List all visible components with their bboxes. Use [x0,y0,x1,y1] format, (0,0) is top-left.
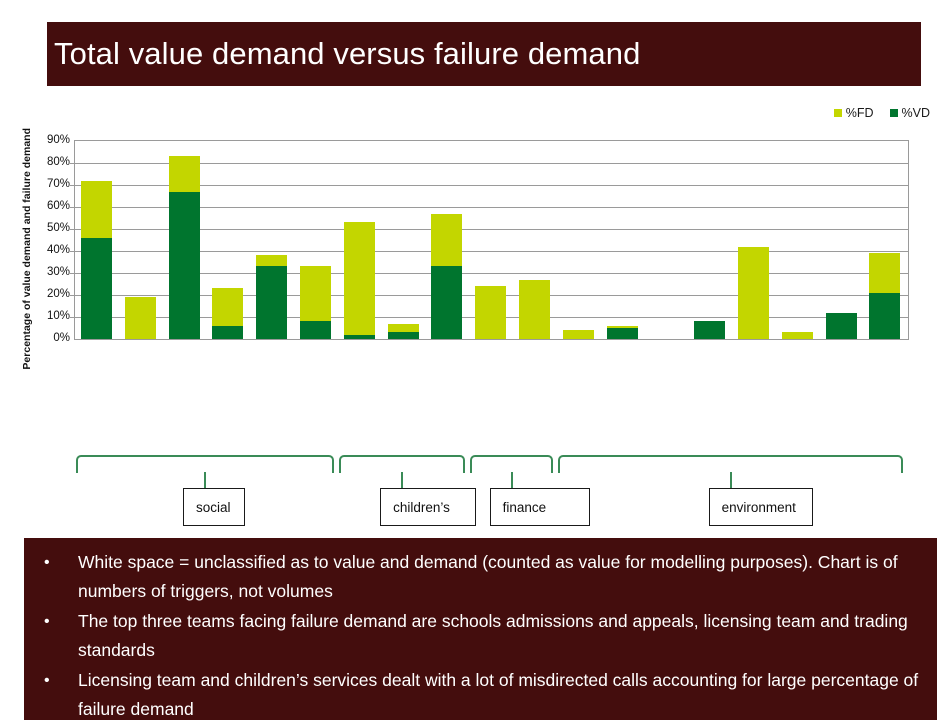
bar[interactable] [125,297,156,339]
bar-segment-vd [300,321,331,339]
group-bracket [558,455,904,473]
chart-legend: %FD %VD [834,106,930,120]
y-axis-tick-label: 30% [47,266,70,278]
bar-segment-fd [344,222,375,334]
bar-segment-vd [169,192,200,339]
bullet-text: Licensing team and children’s services d… [78,666,924,724]
bar-segment-fd [475,286,506,339]
note-bullet: •Licensing team and children’s services … [34,666,924,724]
group-label: environment [710,500,796,515]
bar-segment-vd [869,293,900,339]
group-bracket-stem [511,472,513,488]
bar-segment-vd [388,332,419,339]
legend-item-vd: %VD [890,106,930,120]
bar[interactable] [607,326,638,339]
bar[interactable] [431,214,462,339]
bar-segment-vd [344,335,375,339]
bar-segment-fd [169,156,200,191]
group-label-box: social [183,488,245,526]
bar[interactable] [869,253,900,339]
plot-area [74,140,909,340]
bar-segment-vd [694,321,725,339]
group-bracket [470,455,553,473]
y-axis-tick-label: 20% [47,288,70,300]
y-axis-tick-label: 50% [47,222,70,234]
bar-segment-vd [607,328,638,339]
notes-list: •White space = unclassified as to value … [34,548,924,725]
group-label-box: children’s [380,488,476,526]
bar[interactable] [475,286,506,339]
bar[interactable] [826,313,857,339]
bar-segment-fd [212,288,243,325]
bar[interactable] [519,280,550,339]
note-bullet: •White space = unclassified as to value … [34,548,924,606]
bar[interactable] [169,156,200,339]
bar-segment-fd [738,247,769,339]
bar[interactable] [694,321,725,339]
bullet-marker: • [34,607,78,636]
bullet-text: White space = unclassified as to value a… [78,548,924,606]
bar[interactable] [81,181,112,339]
bar[interactable] [256,255,287,339]
group-bracket-stem [401,472,403,488]
bar-segment-fd [388,324,419,333]
group-bracket [76,455,334,473]
bar[interactable] [300,266,331,339]
legend-label-fd: %FD [846,106,874,120]
y-axis-tick-label: 60% [47,200,70,212]
legend-swatch-vd [890,109,898,117]
y-axis-tick-label: 0% [53,332,70,344]
page-title: Total value demand versus failure demand [54,34,640,74]
note-bullet: •The top three teams facing failure dema… [34,607,924,665]
bullet-marker: • [34,548,78,577]
bar[interactable] [563,330,594,339]
bar-segment-fd [563,330,594,339]
group-brackets: socialchildren’sfinanceenvironment [0,455,944,530]
legend-label-vd: %VD [902,106,930,120]
bar-segment-vd [256,266,287,339]
bar-segment-fd [431,214,462,267]
bar-segment-fd [782,332,813,339]
bar[interactable] [782,332,813,339]
bar-segment-vd [431,266,462,339]
group-bracket-stem [204,472,206,488]
legend-item-fd: %FD [834,106,874,120]
bar-segment-fd [125,297,156,339]
group-bracket [339,455,466,473]
bar-segment-fd [869,253,900,293]
bar[interactable] [212,288,243,339]
bar-segment-vd [212,326,243,339]
bar[interactable] [344,222,375,339]
y-axis-tick-labels: 90%80%70%60%50%40%30%20%10%0% [30,134,70,344]
bullet-text: The top three teams facing failure deman… [78,607,924,665]
y-axis-tick-label: 10% [47,310,70,322]
bar[interactable] [388,324,419,339]
y-axis-tick-label: 40% [47,244,70,256]
legend-swatch-fd [834,109,842,117]
bar-segment-vd [81,238,112,339]
bar-series [75,141,908,339]
group-label-box: finance [490,488,590,526]
y-axis-tick-label: 70% [47,178,70,190]
bar-segment-fd [256,255,287,266]
bar-segment-fd [519,280,550,339]
group-label: children’s [381,500,450,515]
y-axis-tick-label: 80% [47,156,70,168]
bar-segment-fd [81,181,112,238]
group-label: social [184,500,231,515]
slide: Total value demand versus failure demand… [0,0,944,723]
group-label-box: environment [709,488,813,526]
bar-segment-fd [300,266,331,321]
group-label: finance [491,500,547,515]
group-bracket-stem [730,472,732,488]
bar[interactable] [738,247,769,339]
bar-segment-vd [826,313,857,339]
y-axis-tick-label: 90% [47,134,70,146]
bullet-marker: • [34,666,78,695]
